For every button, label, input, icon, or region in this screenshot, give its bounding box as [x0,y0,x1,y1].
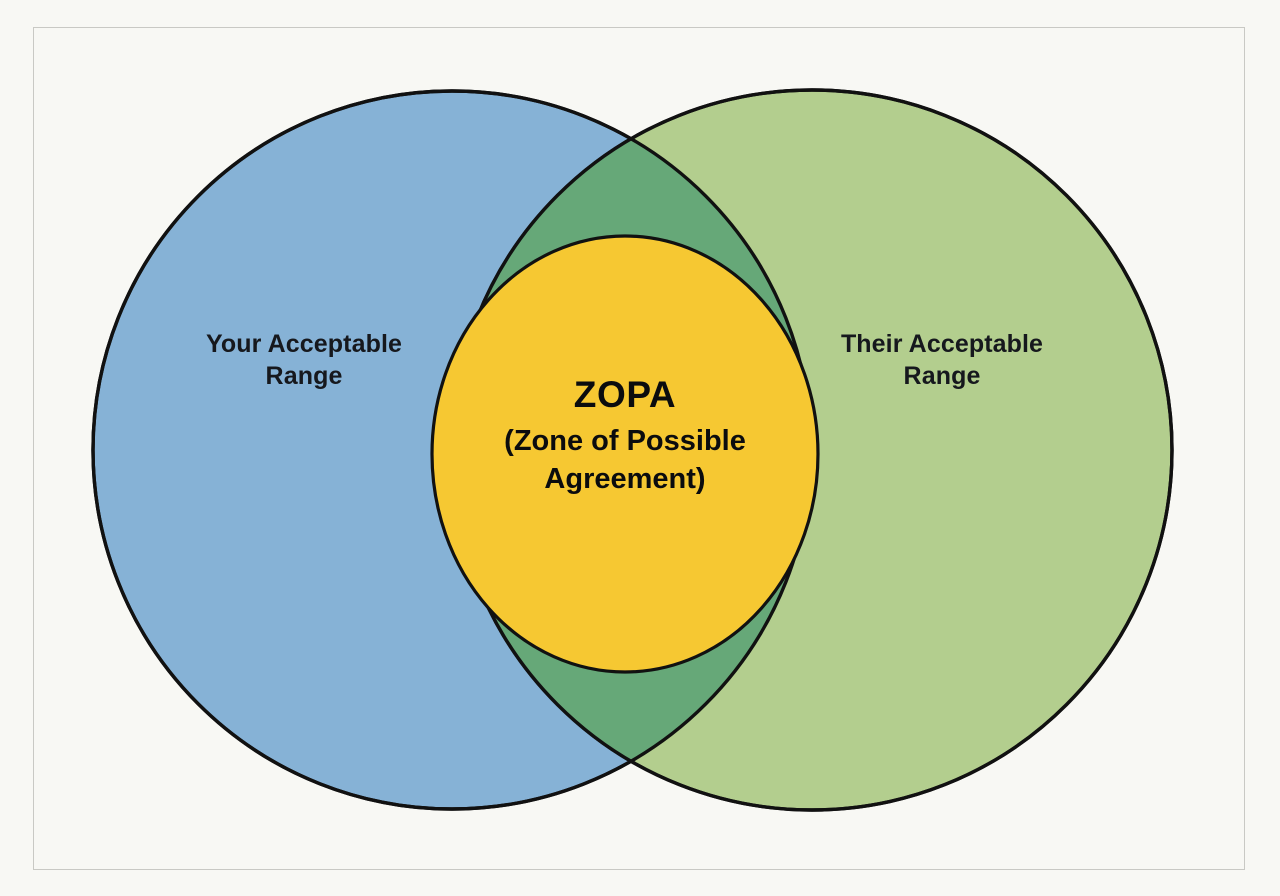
set-label-your-range-line2: Range [152,360,456,392]
diagram-canvas: Your Acceptable Range Their Acceptable R… [0,0,1280,896]
zopa-expansion-line1: (Zone of Possible [437,423,813,460]
zopa-expansion-line2: Agreement) [437,461,813,498]
set-label-your-range-line1: Your Acceptable [152,328,456,360]
zopa-expansion: (Zone of Possible Agreement) [437,423,813,497]
set-label-their-range: Their Acceptable Range [790,328,1094,392]
zopa-acronym: ZOPA [437,374,813,415]
set-label-your-range: Your Acceptable Range [152,328,456,392]
set-label-their-range-line2: Range [790,360,1094,392]
zopa-label-group: ZOPA (Zone of Possible Agreement) [437,374,813,498]
set-label-their-range-line1: Their Acceptable [790,328,1094,360]
